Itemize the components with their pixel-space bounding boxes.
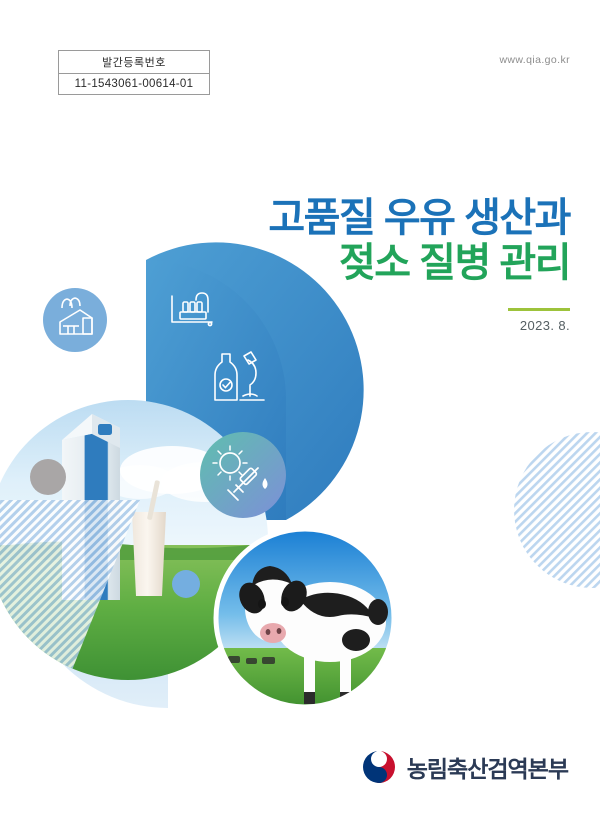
publication-cover: 발간등록번호 11-1543061-00614-01 www.qia.go.kr… bbox=[0, 0, 600, 839]
blue-dot-accent bbox=[172, 570, 200, 598]
striped-circle-right bbox=[514, 432, 600, 588]
date-accent-rule bbox=[508, 308, 570, 311]
publication-date: 2023. 8. bbox=[268, 318, 570, 333]
website-url[interactable]: www.qia.go.kr bbox=[499, 54, 570, 66]
cover-artwork bbox=[0, 0, 600, 839]
registration-number-box: 발간등록번호 11-1543061-00614-01 bbox=[58, 50, 210, 95]
registration-number: 11-1543061-00614-01 bbox=[59, 74, 209, 94]
title-line-2: 젖소 질병 관리 bbox=[268, 241, 570, 286]
farm-barn-icon bbox=[43, 288, 107, 352]
publisher-logo: 농림축산검역본부 bbox=[362, 750, 568, 784]
publisher-name: 농림축산검역본부 bbox=[407, 750, 568, 784]
title-block: 고품질 우유 생산과 젖소 질병 관리 2023. 8. bbox=[268, 196, 570, 333]
title-line-1: 고품질 우유 생산과 bbox=[268, 196, 570, 241]
registration-label: 발간등록번호 bbox=[59, 51, 209, 74]
gray-dot-accent bbox=[30, 459, 66, 495]
virus-syringe-vaccine-icon bbox=[200, 432, 286, 518]
holstein-dairy-cow-photo bbox=[216, 529, 397, 712]
korea-government-taegeuk-icon bbox=[362, 750, 396, 784]
